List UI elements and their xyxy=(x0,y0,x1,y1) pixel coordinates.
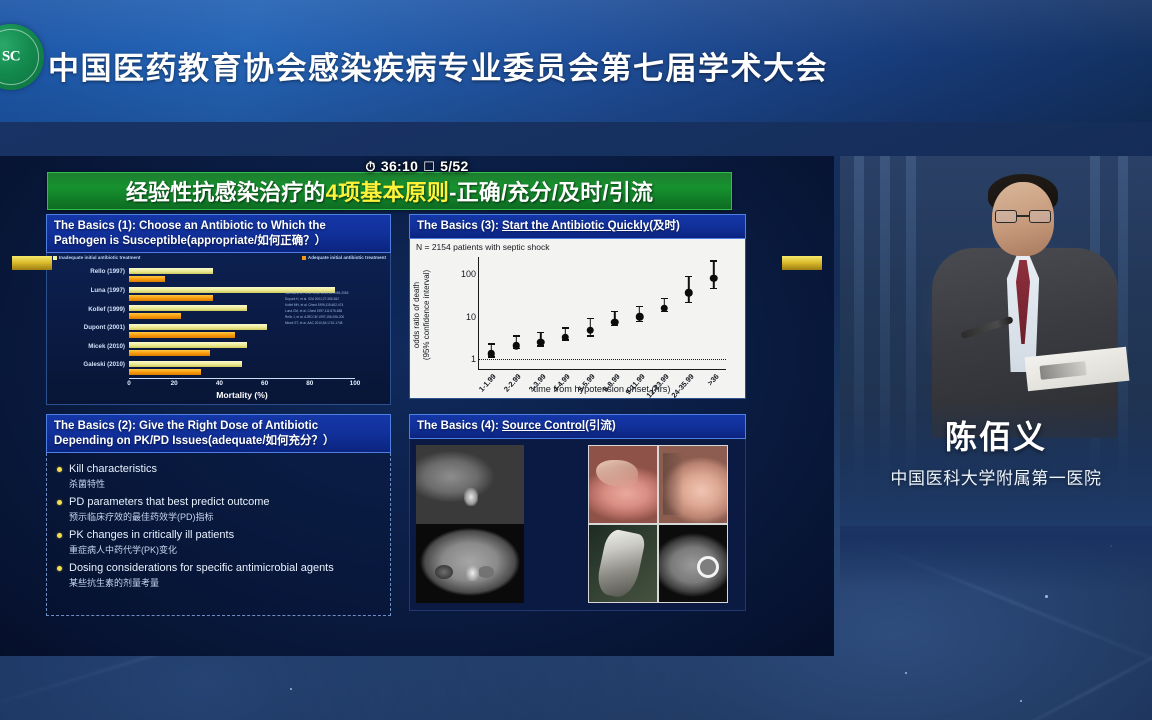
panel-basics-1-heading-line2: Pathogen is Susceptible(appropriate/如何正确… xyxy=(54,234,383,249)
error-bar-point xyxy=(664,257,665,370)
slide-canvas: 经验性抗感染治疗的4项基本原则-正确/充分/及时/引流 The Basics (… xyxy=(0,156,834,656)
bar-chart-row-label: Luna (1997) xyxy=(91,287,125,294)
panel-basics-4-heading: The Basics (4): Source Control(引流) xyxy=(409,414,746,439)
speaker-info: 陈佰义 中国医科大学附属第一医院 xyxy=(840,400,1152,510)
bar-chart-x-tick: 40 xyxy=(216,380,223,387)
error-bar-point xyxy=(614,257,615,370)
bullet-dot-icon xyxy=(57,500,62,505)
panel-basics-4-heading-pre: The Basics (4): xyxy=(417,420,502,432)
bullet-item: PD parameters that best predict outcome预… xyxy=(57,495,382,523)
panel-basics-2-heading-line2: Depending on PK/PD Issues(adequate/如何充分？… xyxy=(54,434,383,449)
bar-chart-x-tick: 20 xyxy=(171,380,178,387)
bar-chart-x-ticks: 020406080100 xyxy=(129,380,355,390)
bullet-text-cn: 预示临床疗效的最佳药效学(PD)指标 xyxy=(69,512,382,524)
glasses-icon xyxy=(995,210,1051,223)
error-chart-y-tick: 1 xyxy=(471,354,476,364)
mortality-bar-chart: Inadequate initial antibiotic treatment … xyxy=(46,253,391,405)
panel-basics-3-heading: The Basics (3): Start the Antibiotic Qui… xyxy=(409,214,746,239)
error-bar-cap xyxy=(611,311,618,312)
bar-segment xyxy=(129,324,267,330)
panel-basics-1-heading-line1: The Basics (1): Choose an Antibiotic to … xyxy=(54,219,383,234)
bar-chart-row-label: Micek (2010) xyxy=(88,343,125,350)
source-control-image-grid xyxy=(409,439,746,611)
conference-seal-icon: SC xyxy=(0,24,44,90)
speaker-affiliation: 中国医科大学附属第一医院 xyxy=(840,464,1152,489)
panel-basics-2-heading-line1: The Basics (2): Give the Right Dose of A… xyxy=(54,419,383,434)
error-bar-marker xyxy=(512,342,520,350)
error-bar-cap xyxy=(661,298,668,299)
bar-chart-row-label: Kollef (1999) xyxy=(88,306,125,313)
bullet-text-en: PD parameters that best predict outcome xyxy=(69,495,270,509)
bar-chart-legend: Inadequate initial antibiotic treatment … xyxy=(53,255,386,260)
bar-chart-x-axis xyxy=(129,378,355,379)
panel-basics-1: The Basics (1): Choose an Antibiotic to … xyxy=(46,214,391,407)
panel-basics-3-heading-pre: The Basics (3): xyxy=(417,220,502,232)
bar-chart-row: Rello (1997) xyxy=(129,266,355,285)
bullet-item: Kill characteristics杀菌特性 xyxy=(57,462,382,490)
error-chart-x-label: time from hypotension onset (hrs) xyxy=(478,384,726,394)
error-bar-cap xyxy=(710,288,717,289)
error-bar-point xyxy=(516,257,517,370)
error-bar-cap xyxy=(513,335,520,336)
error-bar-cap xyxy=(685,276,692,277)
ct-abdomen-upper-image xyxy=(416,445,524,524)
error-bar-marker xyxy=(537,339,545,347)
clinical-photo-wound xyxy=(589,525,657,602)
odds-ratio-error-chart: N = 2154 patients with septic shock odds… xyxy=(409,239,746,399)
error-bar-marker xyxy=(661,305,669,313)
bar-segment xyxy=(129,313,181,319)
bar-chart-citations: Garnacho JF, et al. CCM 2003;31:2069-206… xyxy=(285,291,385,327)
error-bar-point xyxy=(491,257,492,370)
slide-viewer[interactable]: 经验性抗感染治疗的4项基本原则-正确/充分/及时/引流 The Basics (… xyxy=(0,156,834,656)
error-bar-point xyxy=(590,257,591,370)
panel-basics-4: The Basics (4): Source Control(引流) xyxy=(409,414,746,614)
seal-monogram: SC xyxy=(2,49,20,66)
bar-segment xyxy=(129,350,210,356)
bar-chart-x-label: Mortality (%) xyxy=(129,390,355,400)
bullet-text-en: Kill characteristics xyxy=(69,462,157,476)
slide-decoration-bar-left xyxy=(12,256,52,270)
bar-segment xyxy=(129,361,242,367)
error-chart-plot-area: 1101001-1.992-2.993-3.994-4.995-5.996-8.… xyxy=(478,257,726,370)
background-particle xyxy=(1045,595,1048,598)
background-particle xyxy=(905,672,907,674)
bar-segment xyxy=(129,276,165,282)
background-streak xyxy=(922,601,1152,720)
legend-label-adequate: Adequate initial antibiotic treatment xyxy=(308,255,386,260)
panel-basics-2-heading: The Basics (2): Give the Right Dose of A… xyxy=(46,414,391,453)
error-bar-cap xyxy=(710,260,717,261)
conference-header-banner: SC 中国医药教育协会感染疾病专业委员会第七届学术大会 xyxy=(0,0,1152,122)
error-bar-cap xyxy=(685,302,692,303)
bar-segment xyxy=(129,369,201,375)
bar-segment xyxy=(129,305,247,311)
bar-chart-citation: Micek ST, et al. AAC 2010;54:1742-1748 xyxy=(285,321,385,327)
error-bar-marker xyxy=(710,274,718,282)
error-bar-cap xyxy=(537,332,544,333)
speaker-name: 陈佰义 xyxy=(840,412,1152,458)
bullet-text-cn: 杀菌特性 xyxy=(69,479,382,491)
error-bar-cap xyxy=(562,327,569,328)
slide-decoration-bar-right xyxy=(782,256,822,270)
error-bar-marker xyxy=(586,326,594,334)
error-bar-marker xyxy=(611,318,619,326)
error-chart-annotation: N = 2154 patients with septic shock xyxy=(416,242,549,252)
ct-abdomen-lower-image xyxy=(416,524,524,603)
slide-page-icon: ☐ xyxy=(423,160,435,173)
bullet-dot-icon xyxy=(57,467,62,472)
error-bar-point xyxy=(565,257,566,370)
error-bar-cap xyxy=(488,343,495,344)
error-bar-cap xyxy=(587,335,594,336)
bullet-dot-icon xyxy=(57,533,62,538)
bullet-list: Kill characteristics杀菌特性PD parameters th… xyxy=(47,453,390,602)
error-bar-cap xyxy=(636,306,643,307)
slide-title-suffix: -正确/充分/及时/引流 xyxy=(449,180,653,205)
bullet-text-cn: 重症病人中药代学(PK)变化 xyxy=(69,545,382,557)
bar-segment xyxy=(129,332,235,338)
conference-title: 中国医药教育协会感染疾病专业委员会第七届学术大会 xyxy=(48,43,828,88)
panel-basics-2: The Basics (2): Give the Right Dose of A… xyxy=(46,414,391,614)
slide-title: 经验性抗感染治疗的4项基本原则-正确/充分/及时/引流 xyxy=(126,175,653,207)
panel-basics-4-heading-underlined: Source Control xyxy=(502,420,585,432)
error-bar-cap xyxy=(587,318,594,319)
bar-chart-row-label: Dupont (2001) xyxy=(84,324,125,331)
error-bar-point xyxy=(639,257,640,370)
bar-chart-x-tick: 80 xyxy=(306,380,313,387)
ct-scan-stack xyxy=(416,445,524,603)
background-particle xyxy=(290,688,292,690)
error-bar-marker xyxy=(636,313,644,321)
bar-segment xyxy=(129,268,213,274)
slide-title-highlight: 4项基本原则 xyxy=(326,180,449,205)
slide-title-banner: 经验性抗感染治疗的4项基本原则-正确/充分/及时/引流 xyxy=(47,172,732,210)
legend-label-inadequate: Inadequate initial antibiotic treatment xyxy=(59,255,140,260)
bullet-text-cn: 某些抗生素的剂量考量 xyxy=(69,578,382,590)
bullet-text-en: Dosing considerations for specific antim… xyxy=(69,561,334,575)
bar-segment xyxy=(129,342,247,348)
bullet-dot-icon xyxy=(57,566,62,571)
bar-chart-x-tick: 100 xyxy=(350,380,361,387)
bar-chart-row-label: Galeski (2010) xyxy=(83,361,125,368)
bullet-text-en: PK changes in critically ill patients xyxy=(69,528,234,542)
error-bar-marker xyxy=(488,350,496,358)
bar-chart-x-tick: 60 xyxy=(261,380,268,387)
clinical-photo-limb-1 xyxy=(589,446,657,523)
error-chart-y-tick: 100 xyxy=(461,269,476,279)
clock-icon: ⏱ xyxy=(365,160,375,173)
panel-basics-2-body: Kill characteristics杀菌特性PD parameters th… xyxy=(46,453,391,616)
bullet-item: PK changes in critically ill patients重症病… xyxy=(57,528,382,556)
error-bar-point xyxy=(688,257,689,370)
panel-basics-3: The Basics (3): Start the Antibiotic Qui… xyxy=(409,214,746,407)
panel-basics-3-heading-underlined: Start the Antibiotic Quickly xyxy=(502,220,649,232)
clinical-photo-grid xyxy=(588,445,728,603)
error-bar-cap xyxy=(636,321,643,322)
panel-basics-4-heading-post: (引流) xyxy=(585,420,616,432)
bar-chart-x-tick: 0 xyxy=(127,380,131,387)
error-bar-point xyxy=(540,257,541,370)
bar-segment xyxy=(129,295,213,301)
panel-basics-1-heading: The Basics (1): Choose an Antibiotic to … xyxy=(46,214,391,253)
error-chart-y-label: odds ratio of death(95% confidence inter… xyxy=(414,259,430,371)
clinical-photo-limb-2 xyxy=(659,446,727,523)
error-chart-y-tick: 10 xyxy=(466,312,476,322)
error-bar-point xyxy=(713,257,714,370)
background-particle xyxy=(1020,700,1022,702)
panel-basics-3-heading-post: (及时) xyxy=(649,220,680,232)
error-bar-marker xyxy=(685,289,693,297)
bar-chart-row: Galeski (2010) xyxy=(129,359,355,378)
bar-chart-row: Micek (2010) xyxy=(129,341,355,360)
ct-cross-section-abscess xyxy=(659,525,727,602)
bar-chart-row-label: Rello (1997) xyxy=(90,268,125,275)
bullet-item: Dosing considerations for specific antim… xyxy=(57,561,382,589)
slide-title-prefix: 经验性抗感染治疗的 xyxy=(126,180,326,205)
legend-item-adequate: Adequate initial antibiotic treatment xyxy=(302,255,386,260)
error-bar-marker xyxy=(562,333,570,341)
legend-item-inadequate: Inadequate initial antibiotic treatment xyxy=(53,255,140,260)
